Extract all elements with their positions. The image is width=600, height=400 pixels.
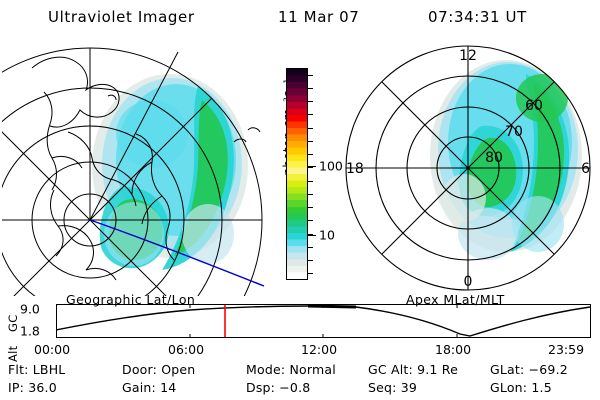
altitude-tick-low: 1.8 [20,324,40,339]
colorbar-minor-tick [308,128,313,129]
colorbar-minor-tick [308,75,313,76]
status-gc-alt: GC Alt: 9.1 Re [368,362,458,377]
status-gain: Gain: 14 [122,380,176,395]
time-tick-2: 12:00 [301,342,337,357]
altitude-track-apogee-segment [308,306,356,307]
colorbar-legend: photon cm⁻²s⁻¹ 10010 [268,60,338,300]
svg-text:80: 80 [485,150,503,166]
status-glon: GLon: 1.5 [490,380,552,395]
colorbar-minor-tick [308,220,313,221]
colorbar-minor-tick [308,154,313,155]
svg-text:6: 6 [581,161,590,177]
colorbar-gradient [286,68,308,280]
colorbar-minor-tick [308,273,313,274]
colorbar-minor-tick [308,194,313,195]
status-seq: Seq: 39 [368,380,417,395]
status-door: Door: Open [122,362,195,377]
altitude-x-ticks [190,305,457,337]
colorbar-minor-tick [308,88,313,89]
magnetic-polar-plot[interactable]: 12 18 6 0 60 70 80 [338,38,600,296]
time-tick-0: 00:00 [34,342,70,357]
uvi-display: Ultraviolet Imager 11 Mar 07 07:34:31 UT [0,0,600,400]
altitude-tick-high: 9.0 [20,302,40,317]
mlt-spokes [346,46,590,290]
colorbar-major-tick [308,235,316,236]
svg-text:70: 70 [505,124,523,140]
colorbar-major-tick-label: 10 [319,228,335,243]
colorbar-ticks: 10010 [308,68,338,280]
time-axis: 00:00 06:00 12:00 18:00 23:59 [0,342,600,360]
status-panel: Flt: LBHL IP: 36.0 Door: Open Gain: 14 M… [0,362,600,400]
svg-text:18: 18 [346,161,364,177]
altitude-track-curve [56,306,590,336]
geographic-polar-plot[interactable] [2,38,270,296]
colorbar-minor-tick [308,234,313,235]
altitude-axis-label-gc: GC [6,314,20,332]
time-tick-1: 06:00 [168,342,204,357]
time-tick-4: 23:59 [548,342,584,357]
svg-text:60: 60 [525,98,543,114]
status-ip: IP: 36.0 [8,380,57,395]
orbit-altitude-plot[interactable]: GC Alt 9.0 1.8 [0,300,600,342]
colorbar-minor-tick [308,260,313,261]
instrument-title: Ultraviolet Imager [48,8,195,26]
colorbar-minor-tick [308,114,313,115]
observation-time: 07:34:31 UT [428,8,527,26]
colorbar-minor-tick [308,181,313,182]
status-filter: Flt: LBHL [8,362,65,377]
svg-text:0: 0 [464,274,473,290]
header-bar: Ultraviolet Imager 11 Mar 07 07:34:31 UT [0,6,600,30]
colorbar-minor-tick [308,167,313,168]
status-glat: GLat: −69.2 [490,362,568,377]
colorbar-minor-tick [308,247,313,248]
time-tick-3: 18:00 [435,342,471,357]
svg-text:12: 12 [459,48,477,64]
status-mode: Mode: Normal [246,362,336,377]
observation-date: 11 Mar 07 [278,8,359,26]
colorbar-major-tick [308,166,316,167]
status-dsp: Dsp: −0.8 [246,380,310,395]
colorbar-minor-tick [308,101,313,102]
colorbar-minor-tick [308,141,313,142]
colorbar-minor-tick [308,207,313,208]
